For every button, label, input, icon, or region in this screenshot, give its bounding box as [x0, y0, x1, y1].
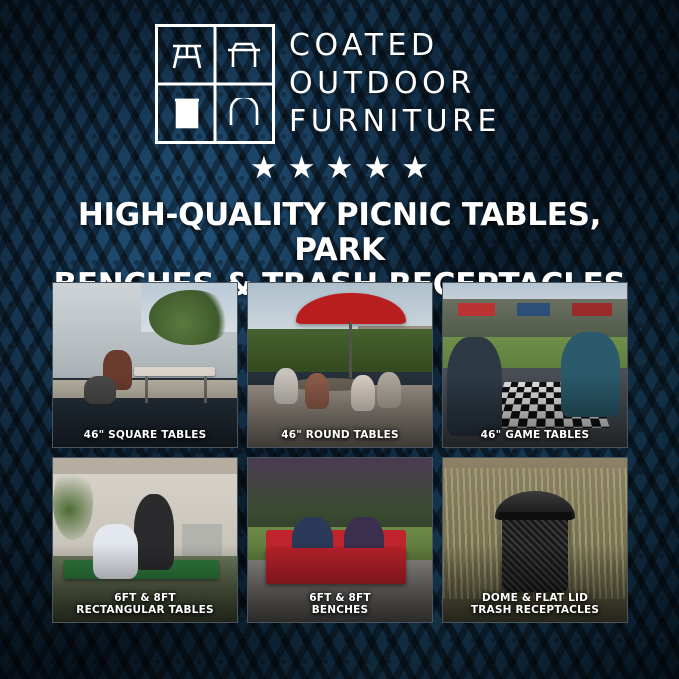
brand-wordmark: COATED OUTDOOR FURNITURE: [289, 24, 501, 140]
caption-line-1: 46" ROUND TABLES: [251, 429, 429, 441]
caption-line-2: BENCHES: [251, 604, 429, 616]
arch-bench-icon: [215, 84, 272, 141]
product-card-benches[interactable]: 6FT & 8FT BENCHES: [247, 457, 433, 623]
product-caption: 6FT & 8FT BENCHES: [248, 588, 432, 622]
caption-line-1: 6FT & 8FT: [251, 592, 429, 604]
caption-line-1: 46" GAME TABLES: [446, 429, 624, 441]
photo-square-tables: [53, 283, 237, 447]
logo-icon-grid: [155, 24, 275, 144]
headline-line-1: HIGH-QUALITY PICNIC TABLES, PARK: [78, 197, 601, 268]
photo-game-tables: [443, 283, 627, 447]
star-icon-1: ★: [250, 152, 278, 183]
brand-line-2: OUTDOOR: [289, 66, 501, 102]
product-card-round-tables[interactable]: 46" ROUND TABLES: [247, 282, 433, 448]
product-grid: 46" SQUARE TABLES: [52, 282, 628, 623]
star-icon-2: ★: [288, 152, 316, 183]
caption-line-1: 46" SQUARE TABLES: [56, 429, 234, 441]
caption-line-2: TRASH RECEPTACLES: [446, 604, 624, 616]
poster-image: COATED OUTDOOR FURNITURE ★ ★ ★ ★ ★ HIGH-…: [0, 0, 679, 679]
trash-receptacle-icon: [158, 84, 215, 141]
star-icon-4: ★: [363, 152, 391, 183]
caption-line-1: DOME & FLAT LID: [446, 592, 624, 604]
product-caption: 46" ROUND TABLES: [248, 425, 432, 447]
caption-line-1: 6FT & 8FT: [56, 592, 234, 604]
brand-line-3: FURNITURE: [289, 104, 501, 140]
star-icon-5: ★: [401, 152, 429, 183]
brand-logo: COATED OUTDOOR FURNITURE: [155, 24, 535, 144]
product-card-rectangular-tables[interactable]: 6FT & 8FT RECTANGULAR TABLES: [52, 457, 238, 623]
park-bench-icon: [215, 27, 272, 84]
product-caption: 46" SQUARE TABLES: [53, 425, 237, 447]
caption-line-2: RECTANGULAR TABLES: [56, 604, 234, 616]
star-rating: ★ ★ ★ ★ ★: [0, 152, 679, 183]
picnic-table-end-icon: [158, 27, 215, 84]
photo-round-tables: [248, 283, 432, 447]
product-caption: 46" GAME TABLES: [443, 425, 627, 447]
product-caption: DOME & FLAT LID TRASH RECEPTACLES: [443, 588, 627, 622]
product-card-square-tables[interactable]: 46" SQUARE TABLES: [52, 282, 238, 448]
product-caption: 6FT & 8FT RECTANGULAR TABLES: [53, 588, 237, 622]
product-card-game-tables[interactable]: 46" GAME TABLES: [442, 282, 628, 448]
star-icon-3: ★: [326, 152, 354, 183]
brand-line-1: COATED: [289, 28, 501, 64]
product-card-trash-receptacles[interactable]: DOME & FLAT LID TRASH RECEPTACLES: [442, 457, 628, 623]
